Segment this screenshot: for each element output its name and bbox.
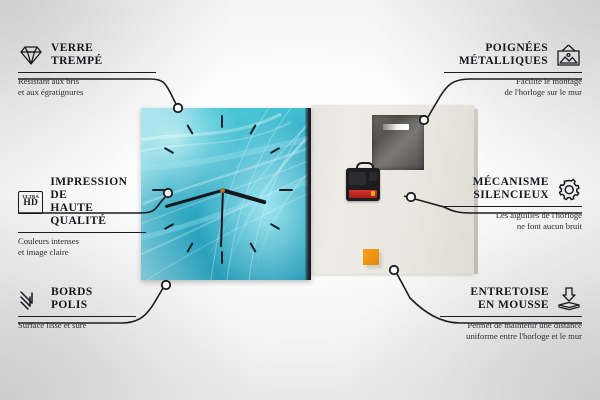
feature-bords-polis-title: BORDS POLIS [51, 286, 93, 312]
feature-entretoise-title: ENTRETOISE EN MOUSSE [470, 286, 549, 312]
feature-desc-line1: Couleurs intenses [18, 236, 146, 247]
feature-title-line2: SILENCIEUX [473, 189, 549, 202]
feature-underline [444, 206, 582, 207]
feature-underline [18, 232, 146, 233]
feature-title-line1: POIGNÉES [459, 42, 548, 55]
ultra-hd-icon: ultra HD [18, 191, 43, 214]
connector-dot-impression [164, 189, 172, 197]
feature-bords-polis: BORDS POLIS Surface lisse et sûre [18, 286, 128, 331]
feature-mecanisme-silencieux: MÉCANISME SILENCIEUX Les aiguilles de l'… [444, 176, 582, 231]
wall-mount-frame-icon [555, 44, 582, 67]
infographic-canvas: VERRE TREMPÉ Résistant aux bris et aux é… [0, 0, 600, 400]
feature-mecanisme-title: MÉCANISME SILENCIEUX [473, 176, 549, 202]
feature-title-line1: VERRE [51, 42, 103, 55]
feature-desc-line1: Résistant aux bris [18, 76, 156, 87]
feature-poignees-desc: Facilite le montage de l'horloge sur le … [444, 76, 582, 97]
feature-underline [444, 72, 582, 73]
feature-poignees-header: POIGNÉES MÉTALLIQUES [444, 42, 582, 68]
polished-edges-icon [18, 288, 44, 310]
feature-entretoise-desc: Permet de maintenir une distance uniform… [440, 320, 582, 341]
connector-dot-verre-trempe [174, 104, 182, 112]
feature-impression-title: IMPRESSION DE HAUTE QUALITÉ [50, 176, 146, 228]
feature-underline [18, 316, 136, 317]
feature-verre-trempe: VERRE TREMPÉ Résistant aux bris et aux é… [18, 42, 156, 97]
feature-mecanisme-desc: Les aiguilles de l'horloge ne font aucun… [444, 210, 582, 231]
feature-poignees-title: POIGNÉES MÉTALLIQUES [459, 42, 548, 68]
feature-verre-trempe-header: VERRE TREMPÉ [18, 42, 156, 68]
feature-desc-line1: Permet de maintenir une distance [440, 320, 582, 331]
feature-verre-trempe-desc: Résistant aux bris et aux égratignures [18, 76, 156, 97]
feature-underline [18, 72, 156, 73]
feature-verre-trempe-title: VERRE TREMPÉ [51, 42, 103, 68]
feature-title-line2: EN MOUSSE [470, 299, 549, 312]
feature-title-line2: MÉTALLIQUES [459, 55, 548, 68]
feature-desc-line1: Surface lisse et sûre [18, 320, 128, 331]
feature-desc-line1: Facilite le montage [444, 76, 582, 87]
feature-title-line2: TREMPÉ [51, 55, 103, 68]
feature-impression-desc: Couleurs intenses et image claire [18, 236, 146, 257]
feature-underline [440, 316, 582, 317]
feature-entretoise-en-mousse: ENTRETOISE EN MOUSSE Permet de maintenir… [440, 286, 582, 341]
feature-bords-polis-desc: Surface lisse et sûre [18, 320, 128, 331]
connector-dot-entretoise [390, 266, 398, 274]
feature-desc-line2: et image claire [18, 247, 146, 258]
feature-mecanisme-header: MÉCANISME SILENCIEUX [444, 176, 582, 202]
feature-title-line1: IMPRESSION DE [50, 176, 146, 202]
connector-dot-bords-polis [162, 281, 170, 289]
gear-icon [556, 177, 582, 202]
feature-desc-line2: et aux égratignures [18, 87, 156, 98]
feature-poignees-metalliques: POIGNÉES MÉTALLIQUES Facilite le montage… [444, 42, 582, 97]
diamond-icon [18, 44, 44, 66]
foam-spacer-icon [556, 287, 582, 311]
feature-impression-haute-qualite: ultra HD IMPRESSION DE HAUTE QUALITÉ Cou… [18, 176, 146, 257]
feature-desc-line2: de l'horloge sur le mur [444, 87, 582, 98]
feature-desc-line2: uniforme entre l'horloge et le mur [440, 331, 582, 342]
feature-impression-header: ultra HD IMPRESSION DE HAUTE QUALITÉ [18, 176, 146, 228]
ultra-hd-icon-large-text: HD [23, 199, 38, 209]
connector-dot-mecanisme [407, 193, 415, 201]
connector-dot-poignees [420, 116, 428, 124]
feature-title-line1: MÉCANISME [473, 176, 549, 189]
feature-title-line2: HAUTE QUALITÉ [50, 202, 146, 228]
feature-desc-line1: Les aiguilles de l'horloge [444, 210, 582, 221]
feature-bords-polis-header: BORDS POLIS [18, 286, 128, 312]
feature-title-line1: ENTRETOISE [470, 286, 549, 299]
feature-title-line2: POLIS [51, 299, 93, 312]
feature-desc-line2: ne font aucun bruit [444, 221, 582, 232]
feature-entretoise-header: ENTRETOISE EN MOUSSE [440, 286, 582, 312]
feature-title-line1: BORDS [51, 286, 93, 299]
